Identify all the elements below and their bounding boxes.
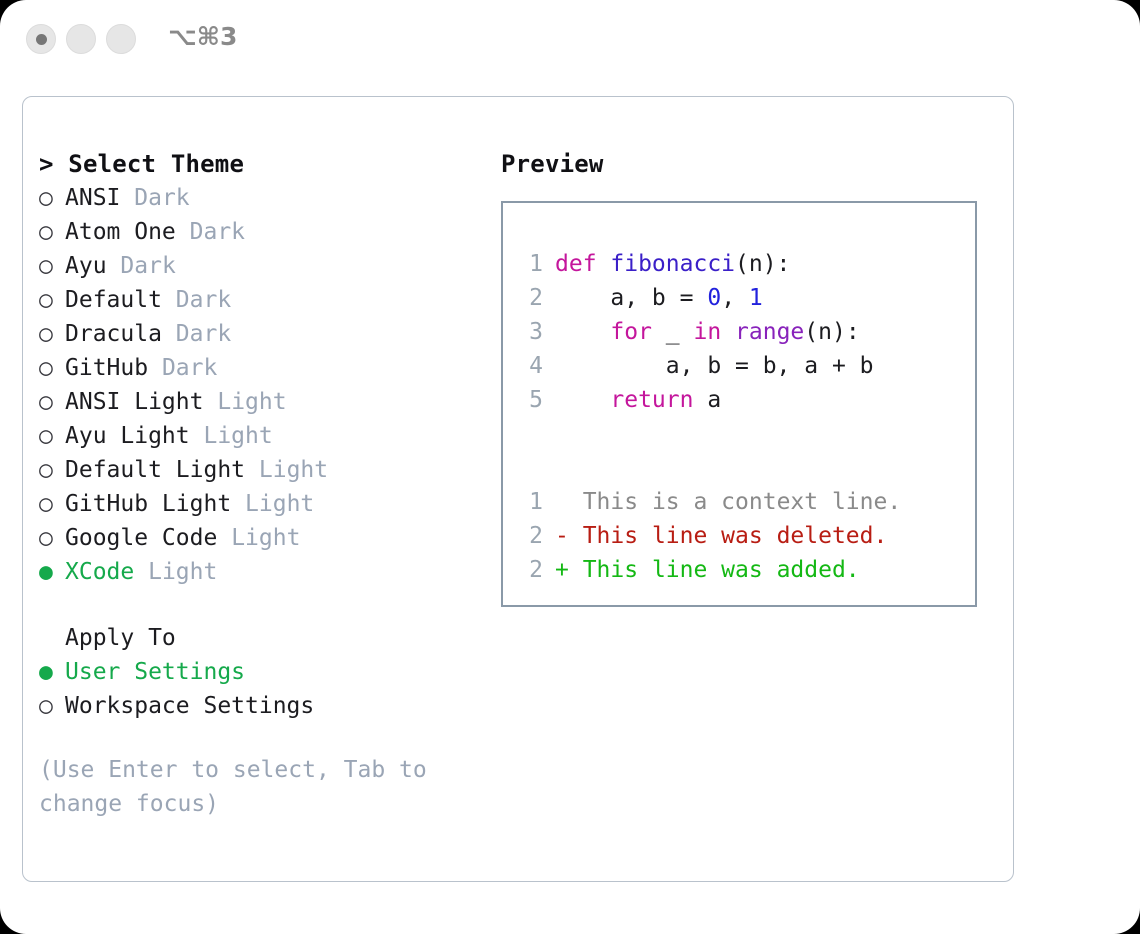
code-token — [721, 319, 735, 345]
radio-unselected-icon: ○ — [39, 689, 65, 723]
theme-picker: > Select Theme ○ANSI Dark○Atom One Dark○… — [39, 147, 479, 821]
diff-line: 1 This is a context line. — [517, 485, 967, 519]
diff-text: This line was deleted. — [569, 523, 888, 549]
line-number: 2 — [517, 281, 543, 315]
diff-text: This line was added. — [569, 557, 860, 583]
theme-list-item[interactable]: ○Dracula Dark — [39, 317, 479, 351]
keyboard-hint: (Use Enter to select, Tab to change focu… — [39, 753, 443, 821]
theme-name: ANSI Light — [65, 389, 203, 415]
apply-to-header: Apply To — [39, 621, 479, 655]
theme-list-item[interactable]: ○GitHub Light Light — [39, 487, 479, 521]
theme-variant-label: Dark — [176, 287, 231, 313]
theme-name: Google Code — [65, 525, 217, 551]
theme-name: Ayu Light — [65, 423, 190, 449]
code-diff-separator — [517, 417, 967, 451]
code-line: 4 a, b = b, a + b — [517, 349, 967, 383]
title-bar: ⌥⌘3 — [0, 0, 1140, 78]
theme-list-item[interactable]: ○GitHub Dark — [39, 351, 479, 385]
code-token: a, b = — [555, 285, 707, 311]
active-dot-icon — [36, 34, 47, 45]
radio-unselected-icon: ○ — [39, 317, 65, 351]
theme-list-item[interactable]: ○Default Light Light — [39, 453, 479, 487]
code-token: (n): — [804, 319, 859, 345]
radio-unselected-icon: ○ — [39, 283, 65, 317]
apply-to-label: User Settings — [65, 659, 245, 685]
theme-variant-label: Dark — [120, 253, 175, 279]
code-line: 2 a, b = 0, 1 — [517, 281, 967, 315]
theme-variant-label: Dark — [162, 355, 217, 381]
radio-unselected-icon: ○ — [39, 385, 65, 419]
theme-variant-label: Light — [217, 389, 286, 415]
theme-variant-label: Dark — [190, 219, 245, 245]
code-sample: 1def fibonacci(n):2 a, b = 0, 13 for _ i… — [517, 247, 967, 587]
line-number: 2 — [517, 553, 543, 587]
radio-unselected-icon: ○ — [39, 249, 65, 283]
line-number: 4 — [517, 349, 543, 383]
theme-variant-label: Light — [231, 525, 300, 551]
diff-text: This is a context line. — [569, 489, 901, 515]
theme-list-item[interactable]: ○ANSI Light Light — [39, 385, 479, 419]
diff-sign: + — [555, 557, 569, 583]
code-token: (n): — [735, 251, 790, 277]
radio-unselected-icon: ○ — [39, 453, 65, 487]
code-token: _ — [652, 319, 694, 345]
diff-sign: - — [555, 523, 569, 549]
theme-list-item[interactable]: ○ANSI Dark — [39, 181, 479, 215]
diff-line: 2- This line was deleted. — [517, 519, 967, 553]
traffic-light-active[interactable] — [26, 24, 56, 54]
line-number: 1 — [517, 247, 543, 281]
traffic-light-second[interactable] — [66, 24, 96, 54]
code-token: 0 — [707, 285, 721, 311]
preview-title: Preview — [501, 147, 997, 181]
theme-list-item[interactable]: ●XCode Light — [39, 555, 479, 589]
theme-name: ANSI — [65, 185, 120, 211]
content-panel: > Select Theme ○ANSI Dark○Atom One Dark○… — [22, 96, 1014, 882]
code-token: def — [555, 251, 610, 277]
theme-list-item[interactable]: ○Default Dark — [39, 283, 479, 317]
preview-box: 1def fibonacci(n):2 a, b = 0, 13 for _ i… — [501, 201, 977, 607]
code-token: fibonacci — [610, 251, 735, 277]
radio-selected-icon: ● — [39, 655, 65, 689]
app-window: ⌥⌘3 > Select Theme ○ANSI Dark○Atom One D… — [0, 0, 1140, 934]
code-line: 5 return a — [517, 383, 967, 417]
diff-line: 2+ This line was added. — [517, 553, 967, 587]
radio-unselected-icon: ○ — [39, 419, 65, 453]
radio-unselected-icon: ○ — [39, 181, 65, 215]
theme-list-item[interactable]: ○Ayu Dark — [39, 249, 479, 283]
apply-to-option[interactable]: ●User Settings — [39, 655, 479, 689]
keyboard-shortcut-label: ⌥⌘3 — [168, 22, 237, 51]
code-token: 1 — [749, 285, 763, 311]
theme-picker-header: > Select Theme — [39, 147, 479, 181]
code-token — [555, 319, 610, 345]
traffic-light-third[interactable] — [106, 24, 136, 54]
apply-to-option[interactable]: ○Workspace Settings — [39, 689, 479, 723]
theme-list-item[interactable]: ○Google Code Light — [39, 521, 479, 555]
code-token: range — [735, 319, 804, 345]
theme-name: Dracula — [65, 321, 162, 347]
theme-name: Atom One — [65, 219, 176, 245]
preview-pane: Preview 1def fibonacci(n):2 a, b = 0, 13… — [501, 147, 997, 607]
theme-variant-label: Light — [148, 559, 217, 585]
code-line: 3 for _ in range(n): — [517, 315, 967, 349]
diff-sign — [555, 489, 569, 515]
theme-variant-label: Dark — [134, 185, 189, 211]
theme-list: ○ANSI Dark○Atom One Dark○Ayu Dark○Defaul… — [39, 181, 479, 589]
theme-name: Ayu — [65, 253, 107, 279]
list-spacer — [39, 589, 479, 621]
theme-name: Default Light — [65, 457, 245, 483]
theme-name: GitHub — [65, 355, 148, 381]
apply-to-options: ●User Settings○Workspace Settings — [39, 655, 479, 723]
code-token — [555, 387, 610, 413]
radio-unselected-icon: ○ — [39, 351, 65, 385]
line-number: 2 — [517, 519, 543, 553]
theme-variant-label: Light — [245, 491, 314, 517]
code-token: for — [610, 319, 652, 345]
line-number: 1 — [517, 485, 543, 519]
code-line: 1def fibonacci(n): — [517, 247, 967, 281]
line-number: 3 — [517, 315, 543, 349]
code-token: a, b = b, a + b — [555, 353, 874, 379]
code-token: in — [693, 319, 721, 345]
theme-variant-label: Dark — [176, 321, 231, 347]
code-token: return — [610, 387, 693, 413]
radio-selected-icon: ● — [39, 555, 65, 589]
apply-to-label: Workspace Settings — [65, 693, 314, 719]
theme-name: XCode — [65, 559, 134, 585]
code-token: , — [721, 285, 749, 311]
theme-list-item[interactable]: ○Atom One Dark — [39, 215, 479, 249]
radio-unselected-icon: ○ — [39, 487, 65, 521]
theme-variant-label: Light — [203, 423, 272, 449]
theme-variant-label: Light — [259, 457, 328, 483]
radio-unselected-icon: ○ — [39, 521, 65, 555]
theme-name: GitHub Light — [65, 491, 231, 517]
theme-name: Default — [65, 287, 162, 313]
line-number: 5 — [517, 383, 543, 417]
radio-unselected-icon: ○ — [39, 215, 65, 249]
theme-list-item[interactable]: ○Ayu Light Light — [39, 419, 479, 453]
code-diff-separator-2 — [517, 451, 967, 485]
code-token: a — [693, 387, 721, 413]
